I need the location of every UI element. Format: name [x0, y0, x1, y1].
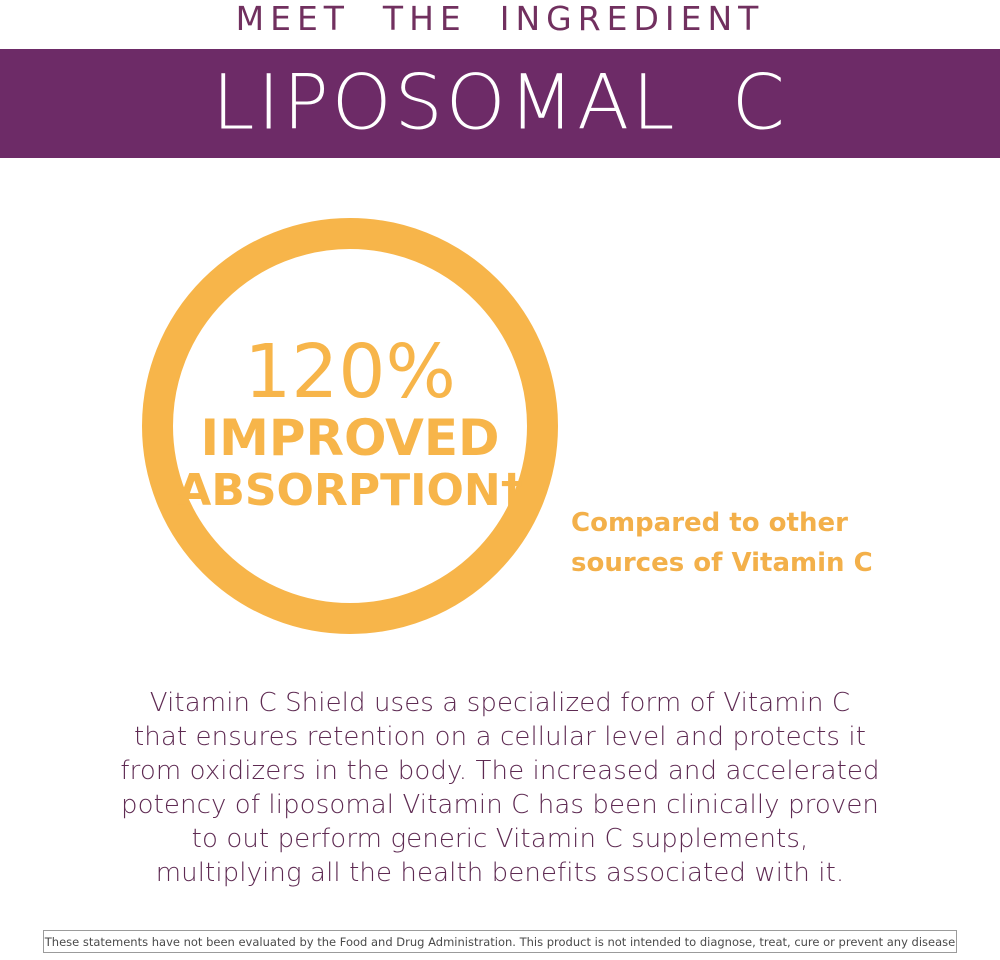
badge-label-absorption: ABSORPTION† [177, 465, 522, 517]
badge-content: 120% IMPROVED ABSORPTION† [142, 218, 558, 634]
badge-label-improved: IMPROVED [200, 411, 499, 465]
fda-disclaimer-box: These statements have not been evaluated… [43, 930, 957, 953]
body-line: that ensures retention on a cellular lev… [60, 720, 940, 754]
comparison-note: Compared to other sources of Vitamin C [571, 503, 901, 583]
title-banner: LIPOSOMAL C [0, 49, 1000, 158]
body-line: multiplying all the health benefits asso… [60, 856, 940, 890]
comparison-note-line-1: Compared to other [571, 503, 901, 543]
fda-disclaimer-text: These statements have not been evaluated… [45, 935, 955, 949]
eyebrow-heading: MEET THE INGREDIENT [0, 0, 1000, 40]
page-title: LIPOSOMAL C [0, 62, 1000, 142]
body-line: to out perform generic Vitamin C supplem… [60, 822, 940, 856]
body-line: Vitamin C Shield uses a specialized form… [60, 686, 940, 720]
ingredient-infographic: MEET THE INGREDIENT LIPOSOMAL C 120% IMP… [0, 0, 1000, 960]
absorption-badge: 120% IMPROVED ABSORPTION† [142, 218, 558, 634]
body-line: from oxidizers in the body. The increase… [60, 754, 940, 788]
comparison-note-line-2: sources of Vitamin C [571, 543, 901, 583]
badge-percent-value: 120% [244, 335, 456, 409]
body-paragraph: Vitamin C Shield uses a specialized form… [60, 686, 940, 890]
body-line: potency of liposomal Vitamin C has been … [60, 788, 940, 822]
